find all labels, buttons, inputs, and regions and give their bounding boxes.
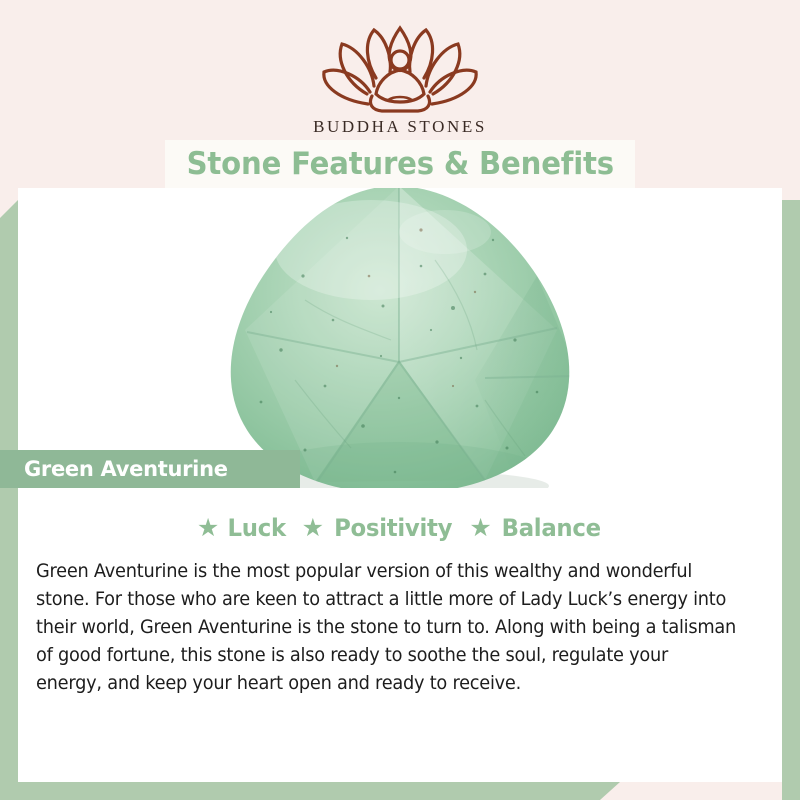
feature-list: ★ Luck ★ Positivity ★ Balance [18, 514, 782, 542]
stone-photo [18, 188, 782, 488]
feature-item-balance: ★ Balance [469, 514, 603, 542]
feature-item-luck: ★ Luck [197, 514, 288, 542]
poster-root: BUDDHA STONES Stone Features & Benefits [0, 0, 800, 800]
feature-label: Positivity [334, 514, 452, 542]
decor-band-left [0, 200, 18, 800]
green-aventurine-stone-image [185, 188, 615, 488]
feature-label: Balance [501, 514, 600, 542]
stone-name-label: Green Aventurine [0, 450, 300, 488]
star-icon: ★ [469, 516, 491, 541]
star-icon: ★ [197, 516, 219, 541]
brand-name: BUDDHA STONES [0, 117, 800, 137]
stone-name-text: Green Aventurine [0, 457, 228, 481]
page-title: Stone Features & Benefits [186, 146, 613, 182]
lotus-meditation-figure-icon [310, 20, 490, 115]
brand-logo: BUDDHA STONES [0, 20, 800, 137]
feature-item-positivity: ★ Positivity [302, 514, 456, 542]
content-panel: ★ Luck ★ Positivity ★ Balance Green Aven… [18, 488, 782, 782]
star-icon: ★ [302, 516, 324, 541]
decor-band-bottom [0, 782, 620, 800]
title-banner: Stone Features & Benefits [165, 140, 635, 188]
feature-label: Luck [228, 514, 286, 542]
description-paragraph: Green Aventurine is the most popular ver… [36, 558, 739, 698]
